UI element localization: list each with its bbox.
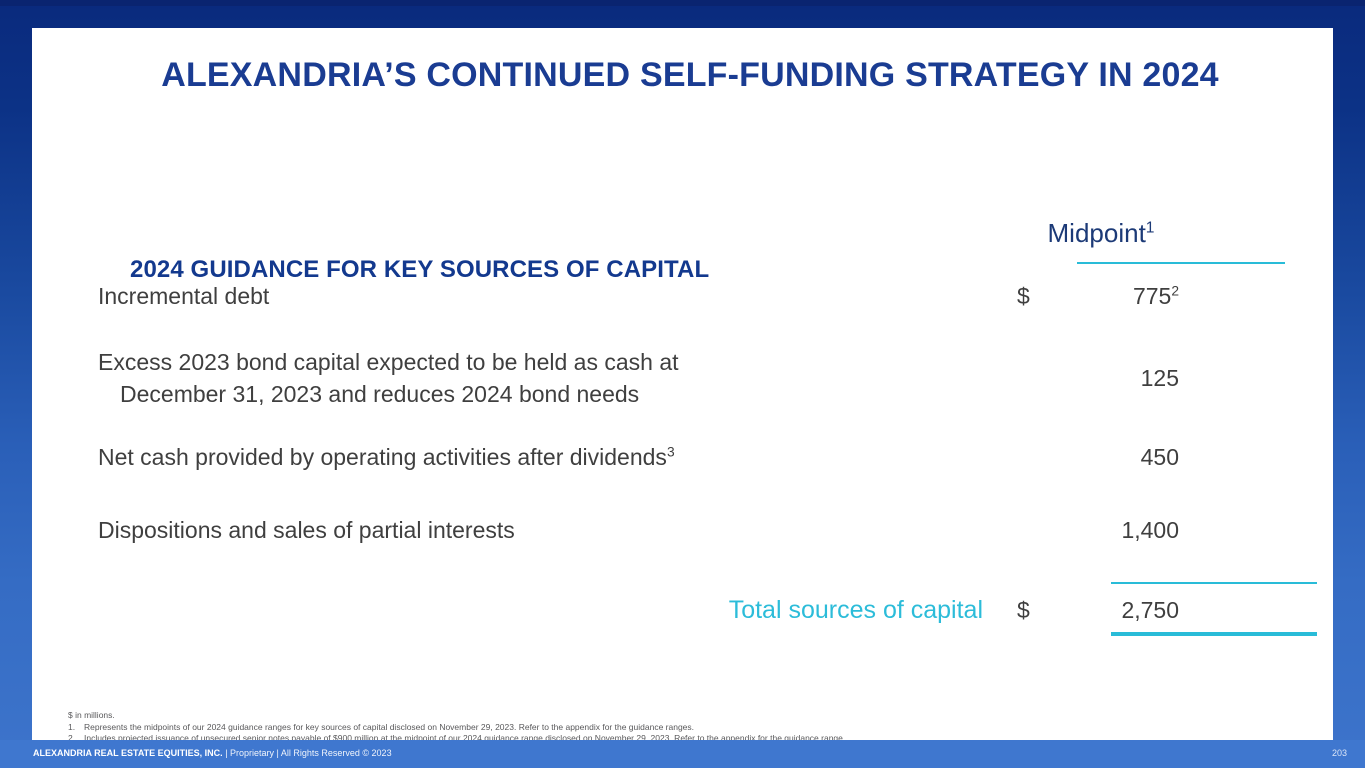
column-header-midpoint-text: Midpoint — [1048, 218, 1146, 248]
row-label-text: Net cash provided by operating activitie… — [98, 444, 667, 470]
sources-of-capital-table: Midpoint1 Incremental debt $ 7752 Excess… — [32, 218, 1333, 652]
row-value-text: 1,400 — [1121, 517, 1179, 543]
row-value: 7752 — [1073, 280, 1197, 312]
row-value: 1,400 — [1073, 514, 1197, 546]
footer-bar: ALEXANDRIA REAL ESTATE EQUITIES, INC. | … — [0, 740, 1365, 768]
row-value: 125 — [1073, 346, 1197, 394]
footnote-item: 1.Represents the midpoints of our 2024 g… — [68, 722, 845, 734]
footer-copyright: ALEXANDRIA REAL ESTATE EQUITIES, INC. | … — [33, 748, 392, 758]
table-header-row: Midpoint1 — [32, 218, 1333, 264]
row-label-text: Dispositions and sales of partial intere… — [98, 517, 515, 543]
row-value-text: 450 — [1141, 444, 1179, 470]
row-label-text: Incremental debt — [98, 283, 269, 309]
row-label: Incremental debt — [32, 280, 1017, 312]
table-total-row: Total sources of capital $ 2,750 — [32, 580, 1333, 652]
table-row: Dispositions and sales of partial intere… — [32, 508, 1333, 580]
row-value-text: 125 — [1141, 365, 1179, 391]
row-label-footnote: 3 — [667, 444, 675, 459]
footer-company-name: ALEXANDRIA REAL ESTATE EQUITIES, INC. — [33, 748, 223, 758]
row-value-text: 775 — [1133, 283, 1171, 309]
footnote-number: 1. — [68, 722, 84, 734]
top-accent-strip — [0, 0, 1365, 6]
row-label-text-line2: December 31, 2023 and reduces 2024 bond … — [98, 378, 1017, 410]
row-label: Dispositions and sales of partial intere… — [32, 514, 1017, 546]
header-underline — [1077, 262, 1285, 264]
row-currency: $ — [1017, 280, 1073, 312]
table-row: Incremental debt $ 7752 — [32, 266, 1333, 346]
total-value: 2,750 — [1073, 594, 1197, 626]
row-label: Excess 2023 bond capital expected to be … — [32, 346, 1017, 410]
page-title: ALEXANDRIA’S CONTINUED SELF-FUNDING STRA… — [80, 56, 1300, 95]
table-row: Net cash provided by operating activitie… — [32, 434, 1333, 508]
page-number: 203 — [1332, 748, 1347, 758]
total-currency: $ — [1017, 594, 1073, 626]
total-rule-top — [1111, 582, 1317, 584]
total-label: Total sources of capital — [32, 594, 1017, 626]
row-label-text: Excess 2023 bond capital expected to be … — [98, 349, 679, 375]
total-rule-bottom — [1111, 632, 1317, 636]
column-header-midpoint: Midpoint1 — [1017, 218, 1197, 249]
slide: ALEXANDRIA’S CONTINUED SELF-FUNDING STRA… — [0, 0, 1365, 768]
column-header-midpoint-footnote: 1 — [1146, 219, 1155, 236]
row-label: Net cash provided by operating activitie… — [32, 441, 1017, 473]
footnote-text: Represents the midpoints of our 2024 gui… — [84, 722, 694, 732]
footer-rights-text: | Proprietary | All Rights Reserved © 20… — [223, 748, 392, 758]
row-value: 450 — [1073, 441, 1197, 473]
table-row: Excess 2023 bond capital expected to be … — [32, 346, 1333, 434]
footnote-units: $ in millions. — [68, 710, 845, 722]
row-value-footnote: 2 — [1171, 283, 1179, 298]
slide-content-card: ALEXANDRIA’S CONTINUED SELF-FUNDING STRA… — [32, 28, 1333, 740]
